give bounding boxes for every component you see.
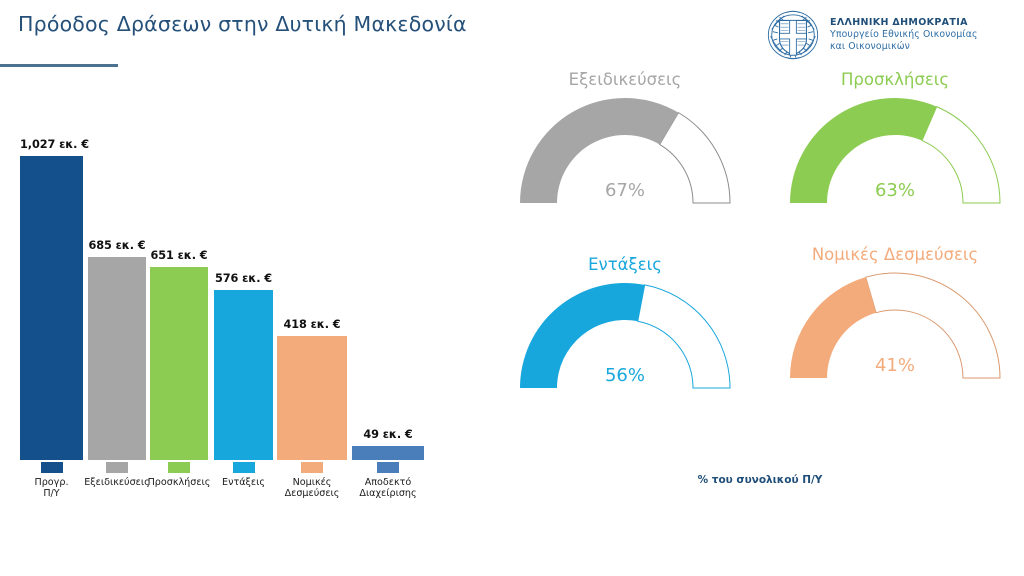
title-underline-rule: [0, 64, 118, 67]
bar-rect[interactable]: [150, 267, 208, 460]
bar-chart-legend: Προγρ. Π/ΥΕξειδικεύσειςΠροσκλήσειςΕντάξε…: [0, 462, 450, 524]
greek-coat-of-arms-icon: [765, 7, 821, 63]
gauge-title: Εντάξεις: [505, 255, 745, 274]
bar-column[interactable]: 651 εκ. €: [150, 124, 208, 460]
legend-swatch: [377, 462, 399, 473]
bar-rect[interactable]: [88, 257, 146, 460]
gauge-note: % του συνολικού Π/Υ: [620, 474, 900, 486]
legend-swatch: [168, 462, 190, 473]
bar-value-label: 1,027 εκ. €: [20, 138, 83, 151]
bar-rect[interactable]: [20, 156, 83, 460]
legend-label: Προσκλήσεις: [142, 477, 216, 488]
legend-swatch: [106, 462, 128, 473]
gauge-value: 41%: [775, 355, 1015, 376]
bar-column[interactable]: 685 εκ. €: [88, 124, 146, 460]
bar-value-label: 49 εκ. €: [352, 428, 424, 441]
bar-column[interactable]: 49 εκ. €: [352, 124, 424, 460]
logo-text-block: ΕΛΛΗΝΙΚΗ ΔΗΜΟΚΡΑΤΙΑ Υπουργείο Εθνικής Οι…: [830, 17, 978, 52]
legend-item[interactable]: Νομικές Δεσμεύσεις: [269, 462, 355, 500]
gauge-value: 67%: [505, 180, 745, 201]
bar-value-label: 651 εκ. €: [150, 249, 208, 262]
page-title: Πρόοδος Δράσεων στην Δυτική Μακεδονία: [18, 12, 467, 36]
ministry-logo: ΕΛΛΗΝΙΚΗ ΔΗΜΟΚΡΑΤΙΑ Υπουργείο Εθνικής Οι…: [765, 6, 1015, 64]
legend-label: Αποδεκτό Διαχείρισης: [344, 477, 432, 500]
gauge-title: Εξειδικεύσεις: [505, 70, 745, 89]
logo-line-3: και Οικονομικών: [830, 41, 978, 53]
legend-swatch: [41, 462, 63, 473]
bar-value-label: 685 εκ. €: [88, 239, 146, 252]
gauge-nomikes-desmeyseis: Νομικές Δεσμεύσεις41%: [775, 245, 1015, 410]
bar-rect[interactable]: [214, 290, 273, 461]
gauge-value: 56%: [505, 365, 745, 386]
legend-item[interactable]: Αποδεκτό Διαχείρισης: [344, 462, 432, 500]
bar-rect[interactable]: [352, 446, 424, 461]
bar-value-label: 576 εκ. €: [214, 272, 273, 285]
legend-swatch: [233, 462, 255, 473]
gauge-entaxeis: Εντάξεις56%: [505, 255, 745, 420]
bar-column[interactable]: 418 εκ. €: [277, 124, 347, 460]
budget-bar-chart: 1,027 εκ. €685 εκ. €651 εκ. €576 εκ. €41…: [0, 120, 450, 460]
legend-label: Νομικές Δεσμεύσεις: [269, 477, 355, 500]
gauge-exeidikeyseis: Εξειδικεύσεις67%: [505, 70, 745, 235]
logo-line-1: ΕΛΛΗΝΙΚΗ ΔΗΜΟΚΡΑΤΙΑ: [830, 17, 978, 29]
legend-swatch: [301, 462, 323, 473]
legend-item[interactable]: Προσκλήσεις: [142, 462, 216, 488]
logo-line-2: Υπουργείο Εθνικής Οικονομίας: [830, 29, 978, 41]
gauge-prosklisis: Προσκλήσεις63%: [775, 70, 1015, 235]
bar-value-label: 418 εκ. €: [277, 318, 347, 331]
gauge-value: 63%: [775, 180, 1015, 201]
bar-rect[interactable]: [277, 336, 347, 460]
gauge-title: Προσκλήσεις: [775, 70, 1015, 89]
bar-column[interactable]: 576 εκ. €: [214, 124, 273, 460]
gauge-title: Νομικές Δεσμεύσεις: [775, 245, 1015, 264]
bar-column[interactable]: 1,027 εκ. €: [20, 124, 83, 460]
